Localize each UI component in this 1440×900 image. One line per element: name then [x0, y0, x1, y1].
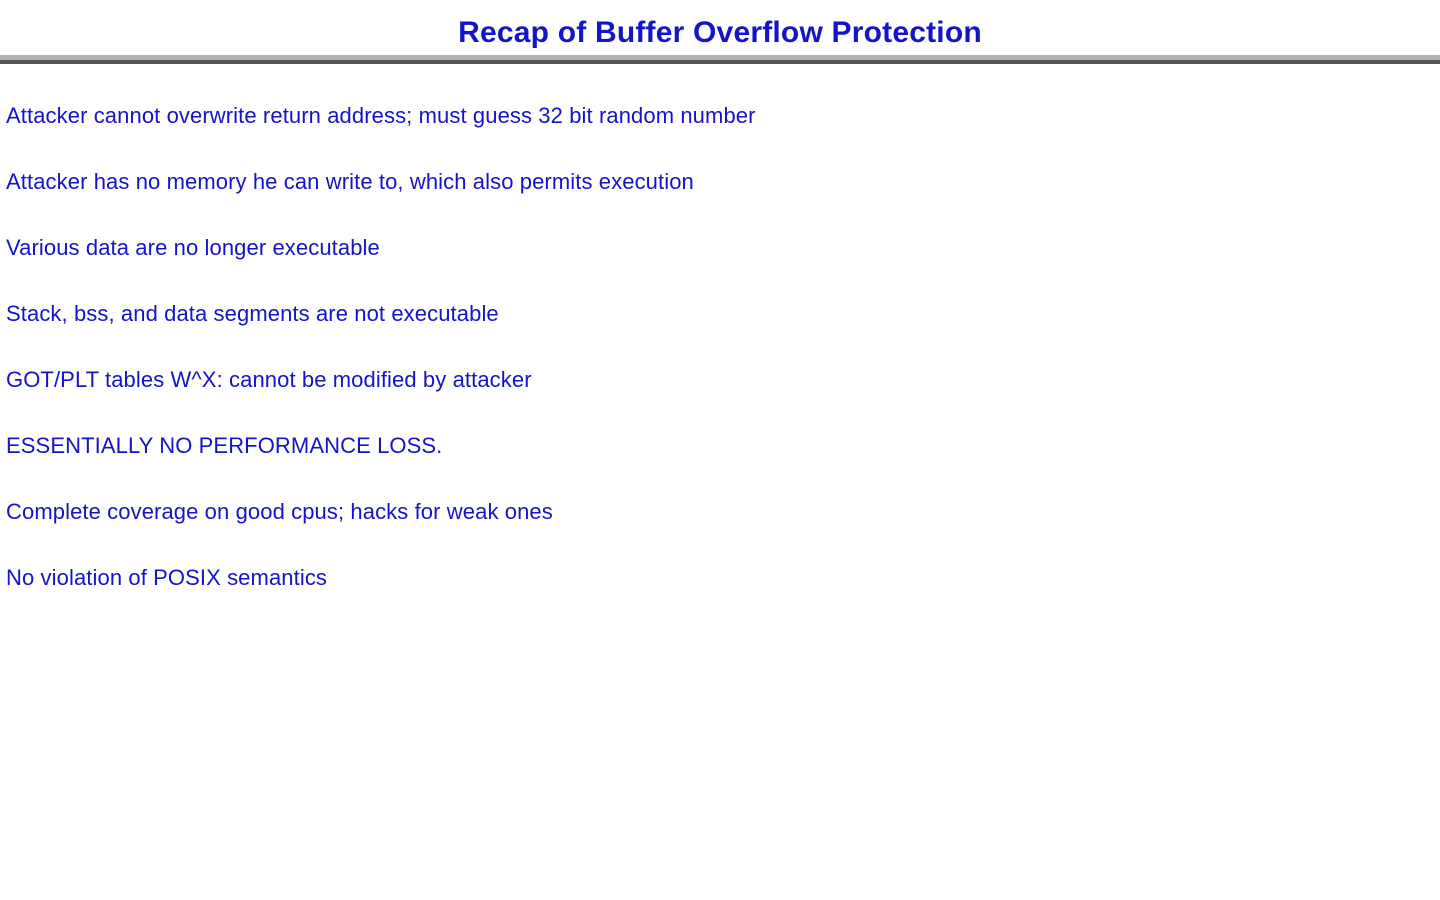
list-item: Complete coverage on good cpus; hacks fo…	[6, 499, 1426, 565]
list-item: Attacker cannot overwrite return address…	[6, 103, 1426, 169]
title-divider-dark-band	[0, 60, 1440, 64]
list-item: ESSENTIALLY NO PERFORMANCE LOSS.	[6, 433, 1426, 499]
list-item: Stack, bss, and data segments are not ex…	[6, 301, 1426, 367]
page-title: Recap of Buffer Overflow Protection	[0, 14, 1440, 52]
title-divider	[0, 55, 1440, 64]
list-item: Various data are no longer executable	[6, 235, 1426, 301]
list-item: No violation of POSIX semantics	[6, 565, 1426, 631]
list-item: Attacker has no memory he can write to, …	[6, 169, 1426, 235]
slide-canvas: Recap of Buffer Overflow Protection Atta…	[0, 0, 1440, 900]
list-item: GOT/PLT tables W^X: cannot be modified b…	[6, 367, 1426, 433]
bullet-list: Attacker cannot overwrite return address…	[6, 103, 1426, 631]
